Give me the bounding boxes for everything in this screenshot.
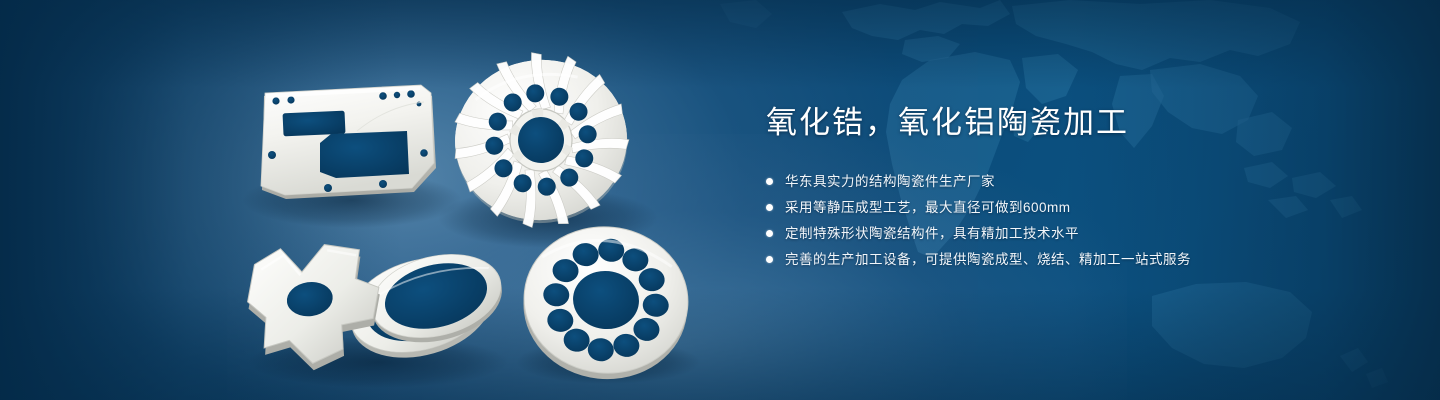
- page-title: 氧化锆，氧化铝陶瓷加工: [766, 104, 1386, 143]
- list-item-label: 完善的生产加工设备，可提供陶瓷成型、烧结、精加工一站式服务: [785, 251, 1191, 268]
- bullet-dot-icon: [766, 230, 773, 237]
- bullet-dot-icon: [766, 178, 773, 185]
- list-item-label: 定制特殊形状陶瓷结构件，具有精加工技术水平: [785, 225, 1079, 242]
- bullet-dot-icon: [766, 204, 773, 211]
- list-item-label: 华东具实力的结构陶瓷件生产厂家: [785, 173, 995, 190]
- banner-copy: 氧化锆，氧化铝陶瓷加工 华东具实力的结构陶瓷件生产厂家 采用等静压成型工艺，最大…: [766, 104, 1386, 277]
- hero-banner: 氧化锆，氧化铝陶瓷加工 华东具实力的结构陶瓷件生产厂家 采用等静压成型工艺，最大…: [0, 0, 1440, 400]
- bullet-dot-icon: [766, 256, 773, 263]
- list-item: 采用等静压成型工艺，最大直径可做到600mm: [766, 199, 1386, 216]
- list-item: 定制特殊形状陶瓷结构件，具有精加工技术水平: [766, 225, 1386, 242]
- list-item: 完善的生产加工设备，可提供陶瓷成型、烧结、精加工一站式服务: [766, 251, 1386, 268]
- list-item: 华东具实力的结构陶瓷件生产厂家: [766, 173, 1386, 190]
- feature-list: 华东具实力的结构陶瓷件生产厂家 采用等静压成型工艺，最大直径可做到600mm 定…: [766, 173, 1386, 268]
- list-item-label: 采用等静压成型工艺，最大直径可做到600mm: [785, 199, 1071, 216]
- ceramic-mounting-plate: [261, 85, 436, 199]
- product-photo-cluster: [0, 0, 760, 400]
